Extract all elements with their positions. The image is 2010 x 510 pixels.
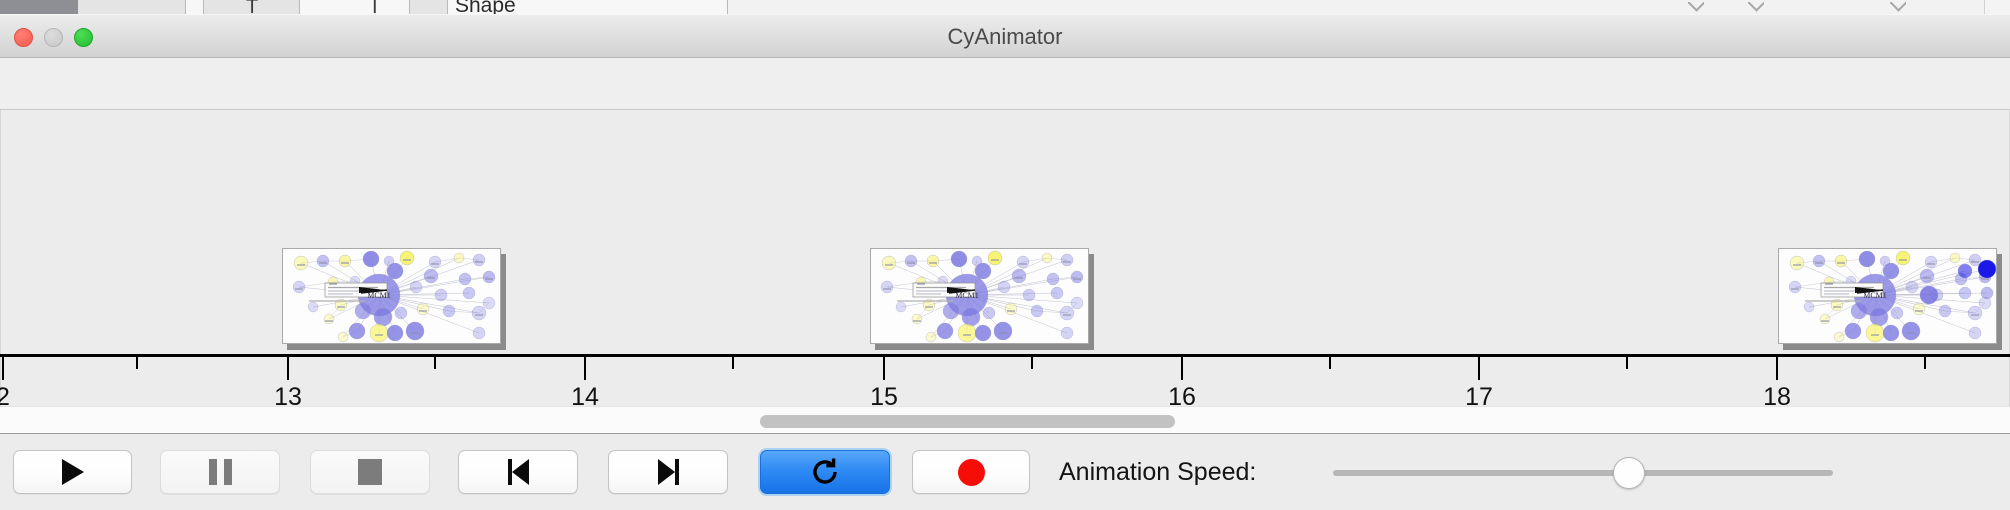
stop-button[interactable] [310, 450, 430, 494]
background-segment-1 [186, 0, 204, 14]
axis-tick-minor [136, 357, 138, 369]
timeline-scrollbar-thumb[interactable] [760, 415, 1175, 428]
loop-button[interactable] [760, 450, 890, 494]
axis-tick-label: 14 [571, 383, 599, 406]
keyframe-image[interactable]: MCM1 [1778, 248, 1997, 344]
background-glyph-0: T [246, 0, 258, 14]
record-button[interactable] [912, 450, 1030, 494]
axis-tick-major [2, 357, 4, 380]
background-segment-0 [78, 0, 186, 14]
background-shape-label: Shape [455, 0, 516, 14]
next-frame-button[interactable] [608, 450, 728, 494]
axis-tick-major [1181, 357, 1183, 380]
timeline-scrollbar[interactable] [0, 406, 2010, 434]
animation-speed-label: Animation Speed: [1059, 450, 1256, 494]
keyframe-image[interactable]: MCM1 [870, 248, 1089, 344]
axis-tick-label: 2 [0, 383, 10, 406]
background-glyph-1: I [372, 0, 378, 14]
axis-tick-label: 17 [1465, 383, 1493, 406]
slider-track [1333, 470, 1833, 476]
axis-tick-major [584, 357, 586, 380]
play-icon [62, 459, 84, 485]
axis-tick-major [883, 357, 885, 380]
timeline-panel[interactable]: MCM1MCM1MCM1 2131415161718 Seconds [0, 110, 2010, 406]
toolbar: ✚ Clear All Frames [0, 58, 2010, 110]
svg-text:MCM1: MCM1 [955, 291, 979, 300]
axis-tick-minor [1031, 357, 1033, 369]
chevron-down-icon-1 [1748, 2, 1764, 12]
axis-tick-minor [1329, 357, 1331, 369]
window-title: CyAnimator [0, 15, 2010, 59]
playback-controls: Animation Speed: [0, 434, 2010, 510]
axis-tick-minor [434, 357, 436, 369]
axis-tick-label: 15 [870, 383, 898, 406]
axis-tick-label: 13 [274, 383, 302, 406]
cyanimator-window: TI Shape CyAnimator ✚ [0, 0, 2010, 510]
stop-icon [358, 459, 382, 485]
skip-forward-icon [658, 459, 679, 485]
background-window-strip: TI Shape [0, 0, 2010, 14]
axis-tick-minor [732, 357, 734, 369]
svg-text:MCM1: MCM1 [1863, 291, 1887, 300]
titlebar: CyAnimator [0, 14, 2010, 58]
loop-icon [809, 456, 841, 488]
axis-tick-major [287, 357, 289, 380]
background-scroll-corner [1984, 0, 2010, 14]
svg-text:MCM1: MCM1 [367, 291, 391, 300]
chevron-down-icon-2 [1890, 2, 1906, 12]
background-segment-3 [300, 0, 410, 14]
background-dark-tab [0, 0, 78, 14]
record-icon [958, 459, 985, 486]
network-graph-preview: MCM1 [283, 249, 500, 343]
chevron-down-icon-0 [1688, 2, 1704, 12]
network-graph-preview: MCM1 [871, 249, 1088, 343]
axis-tick-major [1478, 357, 1480, 380]
axis-tick-major [1776, 357, 1778, 380]
background-segment-4 [410, 0, 448, 14]
axis-tick-minor [1924, 357, 1926, 369]
keyframe-thumbnail[interactable]: MCM1 [1778, 248, 2002, 350]
axis-tick-label: 16 [1168, 383, 1196, 406]
timeline-axis [0, 354, 2010, 357]
keyframe-image[interactable]: MCM1 [282, 248, 501, 344]
slider-thumb[interactable] [1613, 457, 1645, 489]
axis-tick-minor [1626, 357, 1628, 369]
axis-tick-label: 18 [1763, 383, 1791, 406]
keyframe-thumbnail[interactable]: MCM1 [870, 248, 1094, 350]
pause-icon [209, 459, 232, 485]
network-graph-preview: MCM1 [1779, 249, 1996, 343]
animation-speed-slider[interactable] [1333, 470, 1833, 476]
pause-button[interactable] [160, 450, 280, 494]
skip-back-icon [508, 459, 529, 485]
play-button[interactable] [13, 450, 132, 494]
previous-frame-button[interactable] [458, 450, 578, 494]
keyframe-thumbnail[interactable]: MCM1 [282, 248, 506, 350]
